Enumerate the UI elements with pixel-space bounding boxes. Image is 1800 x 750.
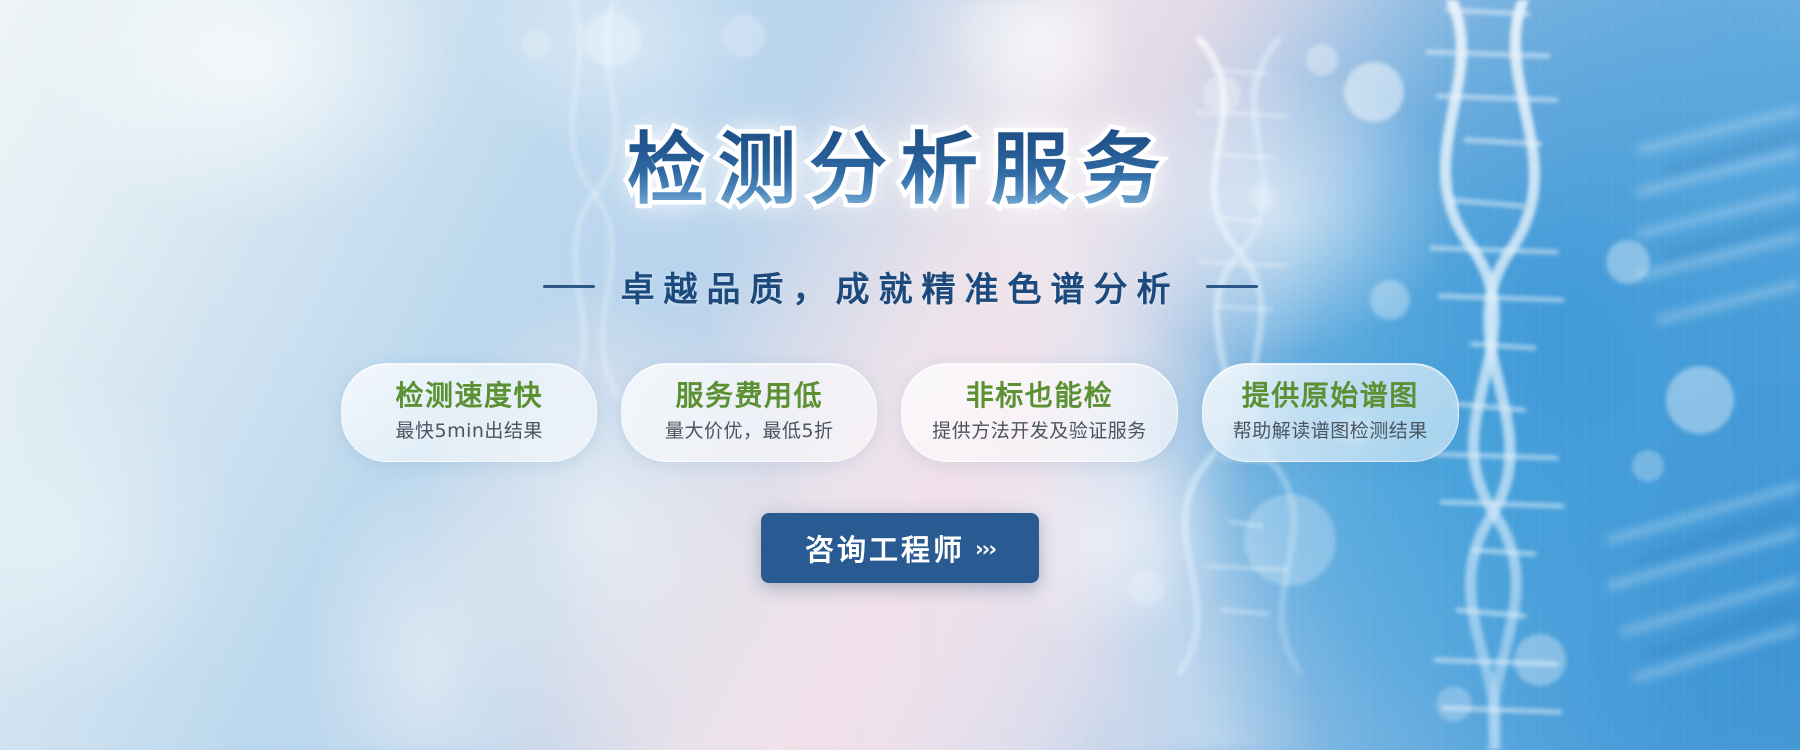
- feature-pill-desc: 最快5min出结果: [372, 418, 566, 445]
- feature-pill-title: 非标也能检: [932, 378, 1147, 414]
- hero-banner: 检测分析服务 检测分析服务 卓越品质，成就精准色谱分析 检测速度快 最快5min…: [0, 0, 1800, 750]
- feature-pill-desc: 帮助解读谱图检测结果: [1233, 418, 1428, 445]
- feature-pill-title: 检测速度快: [372, 378, 566, 414]
- page-title: 检测分析服务 检测分析服务: [627, 118, 1173, 223]
- dash-left-icon: [543, 285, 595, 288]
- page-title-wrap: 检测分析服务 检测分析服务: [0, 118, 1800, 228]
- page-subtitle: 卓越品质，成就精准色谱分析: [621, 262, 1180, 311]
- feature-pill-price[interactable]: 服务费用低 量大价优，最低5折: [621, 363, 877, 462]
- feature-pill-title: 服务费用低: [652, 378, 846, 414]
- feature-pill-rawdata[interactable]: 提供原始谱图 帮助解读谱图检测结果: [1202, 363, 1459, 462]
- feature-pill-list: 检测速度快 最快5min出结果 服务费用低 量大价优，最低5折 非标也能检 提供…: [0, 363, 1800, 462]
- consult-engineer-button[interactable]: 咨询工程师 ›››: [761, 513, 1039, 583]
- chevron-right-triple-icon: ›››: [975, 539, 995, 560]
- banner-content: 检测分析服务 检测分析服务 卓越品质，成就精准色谱分析 检测速度快 最快5min…: [0, 0, 1800, 750]
- cta-wrap: 咨询工程师 ›››: [0, 513, 1800, 583]
- feature-pill-title: 提供原始谱图: [1233, 378, 1428, 414]
- feature-pill-desc: 提供方法开发及验证服务: [932, 418, 1147, 445]
- feature-pill-nonstandard[interactable]: 非标也能检 提供方法开发及验证服务: [901, 363, 1178, 462]
- feature-pill-speed[interactable]: 检测速度快 最快5min出结果: [341, 363, 597, 462]
- consult-engineer-label: 咨询工程师: [805, 527, 965, 569]
- feature-pill-desc: 量大价优，最低5折: [652, 418, 846, 445]
- subtitle-row: 卓越品质，成就精准色谱分析: [0, 262, 1800, 311]
- dash-right-icon: [1206, 285, 1258, 288]
- page-title-text: 检测分析服务: [627, 125, 1173, 215]
